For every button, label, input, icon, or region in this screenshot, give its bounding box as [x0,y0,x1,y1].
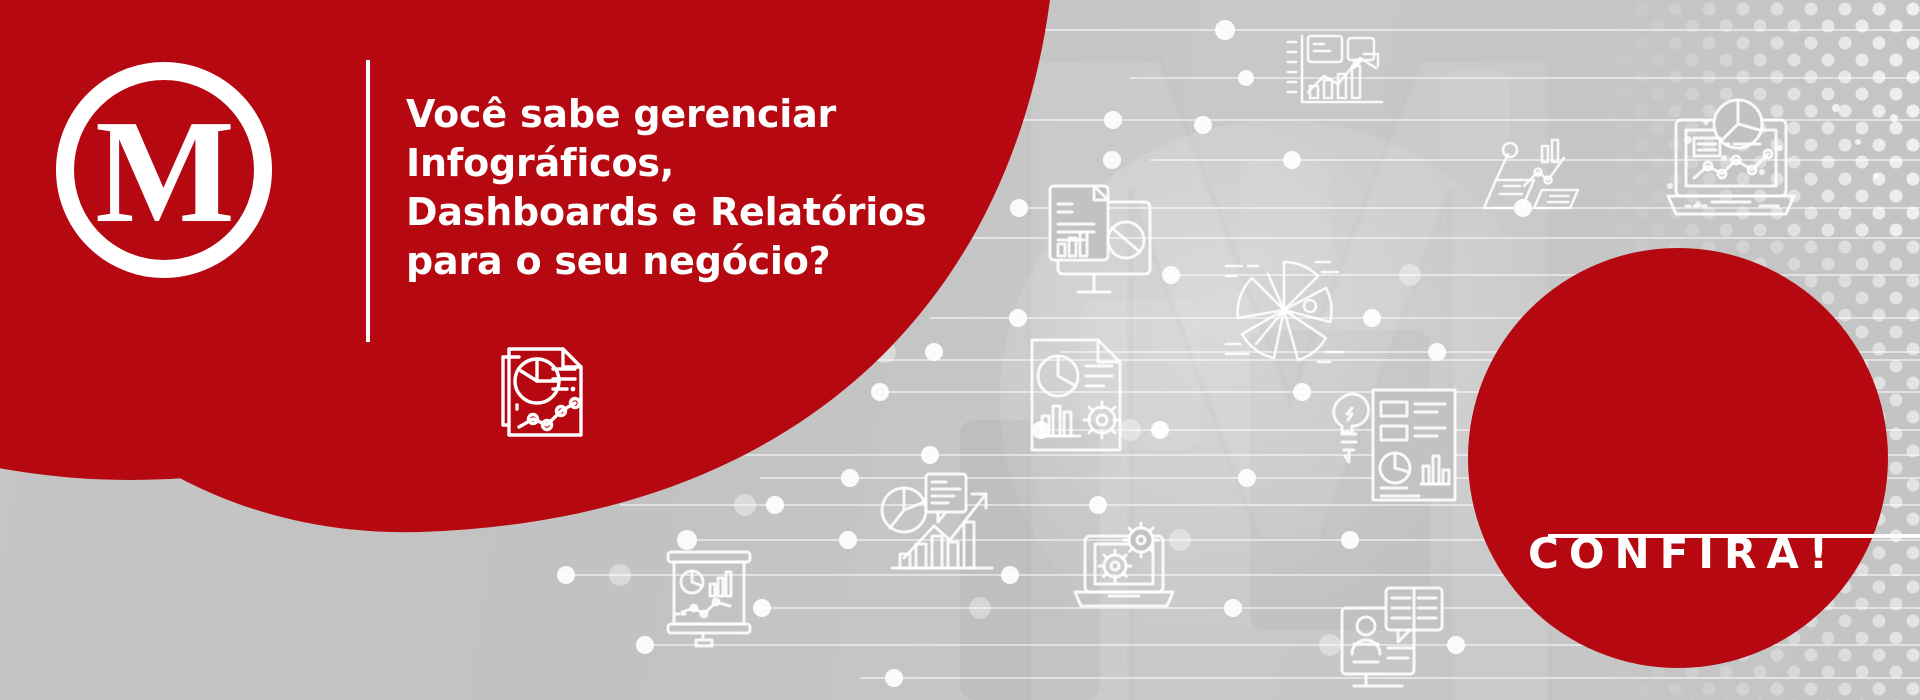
report-document-chart-icon [497,341,589,441]
cta-underline [1548,534,1920,538]
person-speech-chart-icon [1342,588,1442,686]
brand-logo: M [56,62,272,278]
presentation-board-chart-icon [668,552,750,646]
headline-line-2: Infográficos, [406,139,966,188]
headline-line-1: Você sabe gerenciar [406,90,966,139]
laptop-pie-linechart-icon [1668,100,1794,214]
lightbulb-dashboard-icon [1334,390,1455,500]
bar-trend-panel-icon [1484,140,1578,208]
cta-button[interactable]: CONFIRA! [1468,248,1888,668]
radar-pinwheel-chart-icon [1226,262,1344,362]
promo-banner: M Você sabe gerenciar Infográficos, Dash… [0,0,1920,700]
analytics-monitor-icon [1288,36,1382,102]
headline: Você sabe gerenciar Infográficos, Dashbo… [406,90,966,286]
vertical-divider [366,60,370,342]
brand-logo-letter: M [95,98,233,246]
headline-line-3: Dashboards e Relatórios [406,188,966,237]
headline-line-4: para o seu negócio? [406,237,966,286]
